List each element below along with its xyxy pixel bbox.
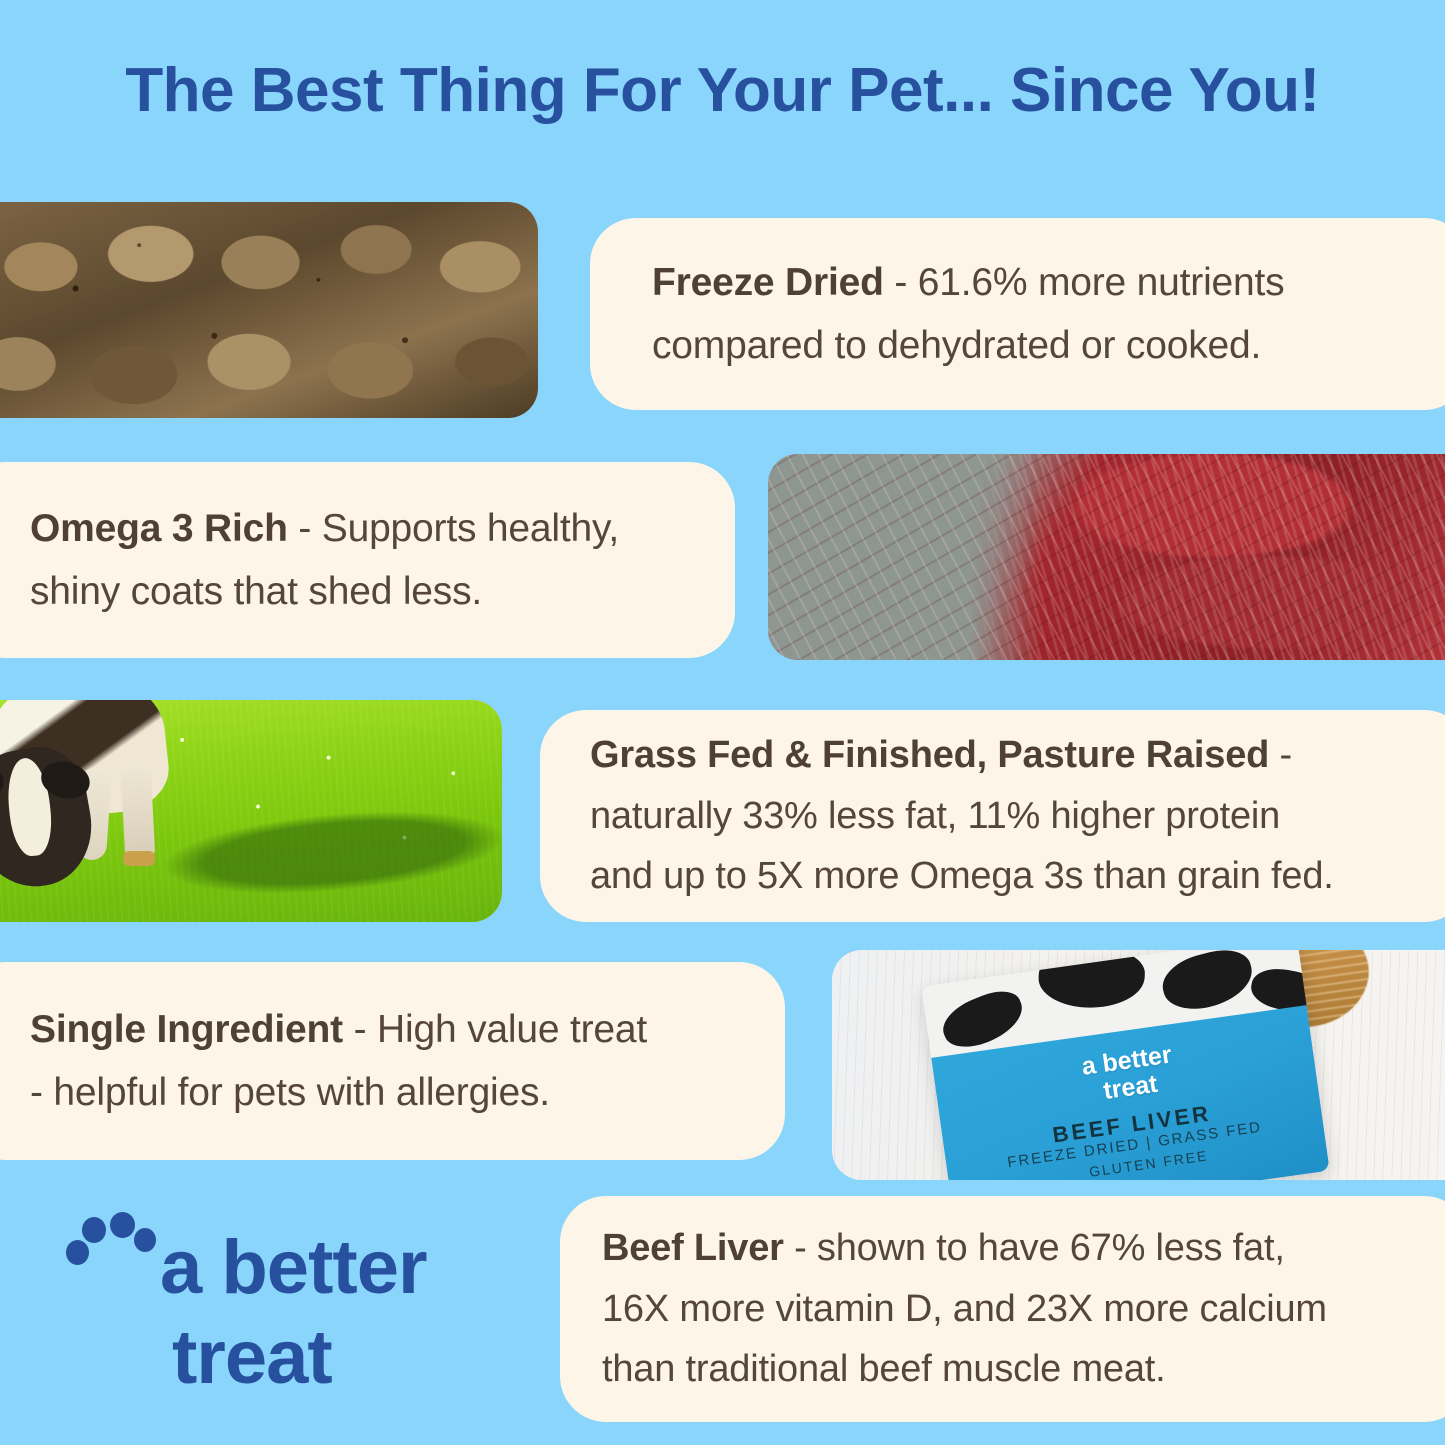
benefit-body-line-2: and up to 5X more Omega 3s than grain fe… [590, 855, 1334, 897]
benefit-dash: - [343, 1008, 377, 1051]
benefit-dash: - [288, 507, 322, 550]
benefit-line: and up to 5X more Omega 3s than grain fe… [590, 846, 1445, 907]
photo-freeze-dried-treats [0, 202, 538, 418]
benefit-title: Single Ingredient [30, 1008, 343, 1051]
benefit-title: Beef Liver [602, 1227, 784, 1269]
photo-product-package: a better treat BEEF LIVER FREEZE DRIED |… [832, 950, 1445, 1180]
paw-print-icon [66, 1214, 152, 1274]
page-title: The Best Thing For Your Pet... Since You… [0, 58, 1445, 123]
cow-hoof [123, 851, 156, 867]
benefit-line: - helpful for pets with allergies. [30, 1061, 785, 1124]
benefit-card-single-ingredient: Single Ingredient - High value treat - h… [0, 962, 785, 1160]
benefit-body-line-1: naturally 33% less fat, 11% higher prote… [590, 795, 1280, 837]
paw-toe-1 [66, 1240, 89, 1265]
benefit-body-line-1: shown to have 67% less fat, [817, 1227, 1285, 1269]
cow-spot [1157, 950, 1258, 1017]
benefit-title: Omega 3 Rich [30, 507, 288, 550]
benefit-line: Freeze Dried - 61.6% more nutrients [652, 251, 1445, 314]
benefit-body-line-2: 16X more vitamin D, and 23X more calcium [602, 1288, 1327, 1330]
paw-toe-4 [134, 1228, 156, 1252]
benefit-line: Beef Liver - shown to have 67% less fat, [602, 1218, 1445, 1279]
brand-logo: a better treat [52, 1208, 522, 1408]
benefit-body-line-2: shiny coats that shed less. [30, 570, 482, 613]
benefit-card-beef-liver: Beef Liver - shown to have 67% less fat,… [560, 1196, 1445, 1422]
photo-raw-beef [768, 454, 1445, 660]
benefit-body-line-2: - helpful for pets with allergies. [30, 1071, 550, 1114]
benefit-body-line-3: than traditional beef muscle meat. [602, 1348, 1166, 1390]
benefit-body-line-1: Supports healthy, [322, 507, 619, 550]
benefit-line: 16X more vitamin D, and 23X more calcium [602, 1279, 1445, 1340]
benefit-dash: - [884, 261, 918, 304]
benefit-line: naturally 33% less fat, 11% higher prote… [590, 786, 1445, 847]
product-pouch: a better treat BEEF LIVER FREEZE DRIED |… [922, 950, 1330, 1180]
paw-toe-3 [110, 1212, 135, 1238]
freeze-dried-treats-artwork [0, 202, 538, 418]
benefit-card-grass-fed: Grass Fed & Finished, Pasture Raised - n… [540, 710, 1445, 922]
benefit-line: Omega 3 Rich - Supports healthy, [30, 497, 735, 560]
cow-foreleg-right [120, 761, 155, 865]
benefit-line: compared to dehydrated or cooked. [652, 314, 1445, 377]
brand-logo-line-1: a better [160, 1230, 427, 1306]
benefit-line: shiny coats that shed less. [30, 560, 735, 623]
benefit-title: Freeze Dried [652, 261, 884, 304]
benefit-body-line-1: High value treat [377, 1008, 647, 1051]
benefit-card-omega-3-rich: Omega 3 Rich - Supports healthy, shiny c… [0, 462, 735, 658]
benefit-body-line-1: 61.6% more nutrients [918, 261, 1285, 304]
benefit-title: Grass Fed & Finished, Pasture Raised [590, 734, 1269, 776]
benefit-body-line-2: compared to dehydrated or cooked. [652, 324, 1261, 367]
benefit-line: Single Ingredient - High value treat [30, 998, 785, 1061]
benefit-card-freeze-dried: Freeze Dried - 61.6% more nutrients comp… [590, 218, 1445, 410]
photo-grazing-cow [0, 700, 502, 922]
raw-beef-artwork [768, 454, 1445, 660]
benefit-dash: - [784, 1227, 817, 1269]
brand-logo-line-2: treat [172, 1320, 332, 1396]
paw-toe-2 [82, 1217, 106, 1243]
benefit-line: Grass Fed & Finished, Pasture Raised - [590, 725, 1445, 786]
benefit-line: than traditional beef muscle meat. [602, 1339, 1445, 1400]
benefit-dash: - [1269, 734, 1292, 776]
